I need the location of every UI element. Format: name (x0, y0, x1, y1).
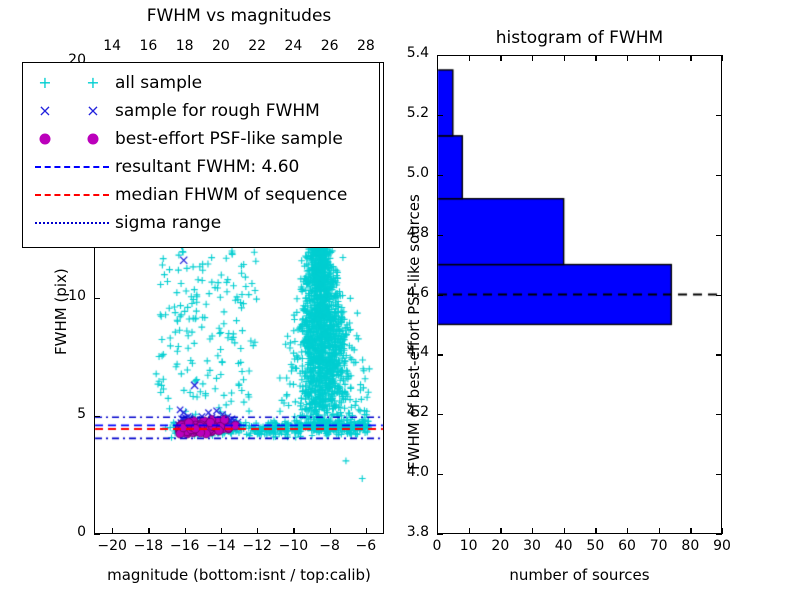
tick-mark (437, 474, 443, 475)
tick-mark (366, 528, 367, 534)
tick-mark (716, 414, 722, 415)
tick-mark (532, 528, 533, 534)
tick-mark (716, 534, 722, 535)
ytick-label: 4.0 (407, 464, 429, 480)
legend-symbol-psf-like (29, 125, 115, 153)
ytick-label: 4.4 (407, 344, 429, 360)
tick-mark (659, 528, 660, 534)
tick-mark (185, 528, 186, 534)
legend-symbol-resultant-fwhm (29, 153, 115, 181)
ytick-label: 5 (77, 406, 86, 422)
tick-mark (722, 528, 723, 534)
tick-mark (437, 175, 443, 176)
tick-mark (690, 528, 691, 534)
tick-mark (595, 528, 596, 534)
tick-mark (627, 528, 628, 534)
tick-mark (437, 235, 443, 236)
tick-mark (716, 115, 722, 116)
xtick-label: 90 (713, 538, 731, 554)
xtick-top-label: 22 (248, 38, 266, 54)
xtick-top-label: 24 (284, 38, 302, 54)
tick-mark (659, 55, 660, 61)
legend-symbol-sigma-range (29, 209, 115, 237)
legend-item: median FHWM of sequence (29, 181, 371, 209)
legend-label: best-effort PSF-like sample (115, 125, 343, 153)
tick-mark (94, 534, 100, 535)
xtick-bottom-label: −18 (134, 538, 164, 554)
xtick-top-label: 26 (321, 38, 339, 54)
dashdot-line-icon (35, 222, 109, 224)
legend-label: median FHWM of sequence (115, 181, 347, 209)
xtick-label: 20 (491, 538, 509, 554)
xtick-label: 30 (523, 538, 541, 554)
ytick-label: 5.0 (407, 165, 429, 181)
legend-label: resultant FWHM: 4.60 (115, 153, 299, 181)
cross-icon: × (38, 103, 51, 119)
dot-icon (40, 134, 51, 145)
dashed-line-icon (35, 194, 109, 196)
tick-mark (94, 416, 100, 417)
xtick-label: 40 (555, 538, 573, 554)
xtick-bottom-label: −8 (319, 538, 340, 554)
legend-label: all sample (115, 69, 202, 97)
tick-mark (500, 55, 501, 61)
tick-mark (94, 298, 100, 299)
tick-mark (437, 55, 438, 61)
tick-mark (437, 354, 443, 355)
tick-mark (437, 295, 443, 296)
ytick-label: 5.4 (407, 45, 429, 61)
tick-mark (437, 414, 443, 415)
legend-symbol-median-fwhm (29, 181, 115, 209)
right-xlabel: number of sources (437, 566, 722, 584)
tick-mark (112, 528, 113, 534)
legend: + + all sample × × sample for rough FWHM… (22, 62, 380, 248)
xtick-label: 50 (586, 538, 604, 554)
legend-item: resultant FWHM: 4.60 (29, 153, 371, 181)
tick-mark (330, 528, 331, 534)
tick-mark (437, 115, 443, 116)
tick-mark (716, 175, 722, 176)
xtick-label: 80 (681, 538, 699, 554)
tick-mark (469, 55, 470, 61)
xtick-top-label: 18 (176, 38, 194, 54)
tick-mark (690, 55, 691, 61)
xtick-bottom-label: −6 (356, 538, 377, 554)
xtick-label: 0 (433, 538, 442, 554)
tick-mark (293, 528, 294, 534)
legend-label: sample for rough FWHM (115, 97, 320, 125)
tick-mark (221, 528, 222, 534)
tick-mark (716, 235, 722, 236)
ytick-label: 3.8 (407, 524, 429, 540)
tick-mark (437, 534, 443, 535)
tick-mark (716, 354, 722, 355)
tick-mark (627, 55, 628, 61)
ytick-label: 5.2 (407, 105, 429, 121)
xtick-bottom-label: −14 (206, 538, 236, 554)
legend-item: + + all sample (29, 69, 371, 97)
plus-icon: + (86, 75, 99, 91)
tick-mark (722, 55, 723, 61)
legend-label: sigma range (115, 209, 221, 237)
tick-mark (716, 295, 722, 296)
dot-icon (88, 134, 99, 145)
ytick-label: 4.2 (407, 404, 429, 420)
tick-mark (716, 474, 722, 475)
legend-item: sigma range (29, 209, 371, 237)
dashed-line-icon (35, 166, 109, 168)
tick-mark (148, 528, 149, 534)
xtick-label: 70 (650, 538, 668, 554)
ytick-label: 4.8 (407, 225, 429, 241)
tick-mark (595, 55, 596, 61)
legend-item: best-effort PSF-like sample (29, 125, 371, 153)
xtick-bottom-label: −10 (279, 538, 309, 554)
xtick-top-label: 28 (357, 38, 375, 54)
figure-canvas: FWHM vs magnitudes FWHM (pix) magnitude … (0, 0, 800, 600)
tick-mark (257, 528, 258, 534)
legend-item: × × sample for rough FWHM (29, 97, 371, 125)
plus-icon: + (38, 75, 51, 91)
xtick-top-label: 20 (212, 38, 230, 54)
xtick-bottom-label: −20 (97, 538, 127, 554)
xtick-top-label: 16 (139, 38, 157, 54)
xtick-label: 60 (618, 538, 636, 554)
xtick-bottom-label: −16 (170, 538, 200, 554)
xtick-bottom-label: −12 (242, 538, 272, 554)
tick-mark (469, 528, 470, 534)
tick-mark (532, 55, 533, 61)
xtick-top-label: 14 (103, 38, 121, 54)
legend-symbol-all-sample: + + (29, 69, 115, 97)
tick-mark (500, 528, 501, 534)
tick-mark (564, 528, 565, 534)
ytick-label: 4.6 (407, 285, 429, 301)
xtick-label: 10 (460, 538, 478, 554)
ytick-label: 0 (77, 524, 86, 540)
cross-icon: × (86, 103, 99, 119)
legend-symbol-rough-fwhm: × × (29, 97, 115, 125)
tick-mark (564, 55, 565, 61)
ytick-label: 10 (68, 288, 86, 304)
